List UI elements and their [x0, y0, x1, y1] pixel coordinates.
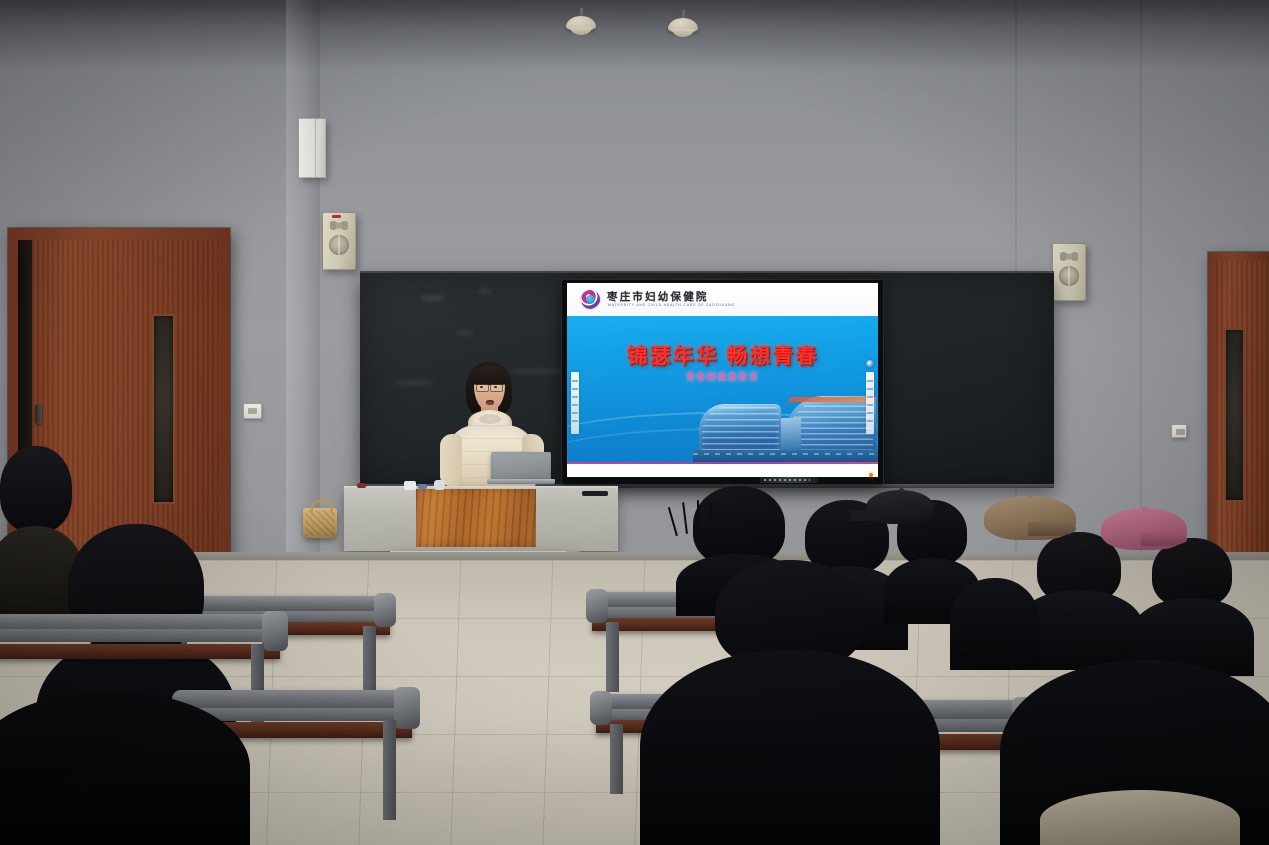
wall-seam-right [1140, 0, 1142, 560]
presentation-slide: 枣庄市妇幼保健院 MATERNITY AND CHILD HEALTH CARE… [567, 283, 878, 477]
wall-panel-box-left [298, 118, 326, 178]
door-window-right [1224, 328, 1245, 502]
antenna-3 [697, 500, 699, 533]
hospital-logo-icon [581, 290, 600, 309]
audience-member-5 [1130, 528, 1254, 676]
desk-item-remote[interactable] [582, 491, 608, 496]
hospital-name-cn: 枣庄市妇幼保健院 [607, 289, 709, 304]
hospital-building-image [693, 386, 878, 462]
slide-subtitle: 青春期健康教育 [567, 370, 878, 383]
ceiling-light-2 [668, 10, 698, 38]
slide-badge-icon [866, 360, 874, 368]
pink-cap [1101, 508, 1187, 550]
woven-tote-bag[interactable] [303, 508, 337, 538]
audience-member-9 [0, 690, 250, 845]
slide-header: 枣庄市妇幼保健院 MATERNITY AND CHILD HEALTH CARE… [567, 283, 878, 316]
audience-member-6 [950, 550, 1040, 670]
display-power-led-icon [869, 473, 873, 477]
desk-item-1[interactable] [357, 483, 366, 488]
classroom-photo: 枣庄市妇幼保健院 MATERNITY AND CHILD HEALTH CARE… [0, 0, 1269, 845]
desk-item-paper[interactable] [404, 481, 416, 490]
audience-member-10 [640, 560, 940, 845]
door-window-left [152, 314, 175, 504]
hospital-name-en: MATERNITY AND CHILD HEALTH CARE OF ZAOZH… [608, 303, 735, 307]
slide-title: 锦瑟年华 畅想青春 [567, 340, 878, 370]
slide-overlay-right [866, 372, 874, 434]
desk-item-2[interactable] [418, 484, 427, 489]
black-cap [866, 490, 934, 524]
door-handle-left[interactable] [35, 404, 42, 424]
wall-switch-right[interactable] [1171, 424, 1187, 438]
khaki-cap [984, 496, 1076, 540]
podium-top-wood-panel [416, 489, 536, 547]
slide-body: 锦瑟年华 畅想青春 青春期健康教育 [567, 316, 878, 462]
display-control-panel[interactable] [760, 477, 818, 483]
slide-footer [567, 462, 878, 477]
presenter-laptop[interactable] [487, 452, 555, 484]
slide-overlay-left [571, 372, 579, 434]
wall-outlet-left[interactable] [243, 403, 262, 419]
display-screen: 枣庄市妇幼保健院 MATERNITY AND CHILD HEALTH CARE… [567, 283, 878, 477]
audience-member-12 [1040, 790, 1240, 845]
wall-speaker-right [1052, 243, 1086, 301]
wall-speaker-left [322, 212, 356, 270]
wall-column-left [286, 0, 320, 560]
ceiling-shadow [0, 0, 1269, 70]
ceiling-light-1 [566, 8, 596, 36]
water-cup[interactable] [434, 480, 445, 490]
